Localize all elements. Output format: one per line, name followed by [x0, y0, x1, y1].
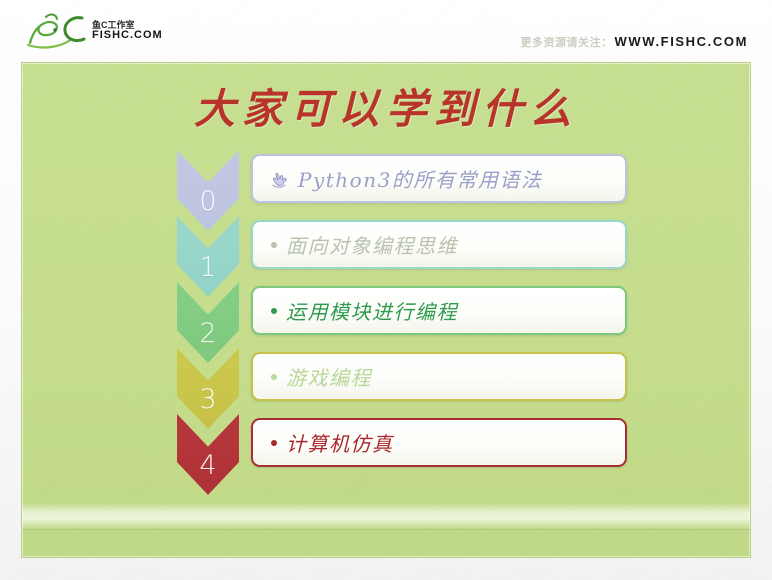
fish-c-logo-icon [24, 9, 90, 53]
list-item[interactable]: 1 面向对象编程思维 [177, 216, 627, 282]
outcome-text-wrap: Python3的所有常用语法 [271, 164, 542, 193]
outcome-box[interactable]: 面向对象编程思维 [251, 220, 627, 269]
outcome-box[interactable]: 游戏编程 [251, 352, 627, 401]
brand-logo[interactable]: 鱼C工作室 FISHC.COM [24, 9, 163, 53]
promo-url[interactable]: WWW.FISHC.COM [615, 34, 748, 49]
outcome-label: 游戏编程 [286, 362, 372, 391]
outcome-label: Python3的所有常用语法 [298, 164, 542, 193]
step-number: 1 [177, 252, 239, 283]
slide-content-area: 大家可以学到什么 0 Python3 [21, 62, 751, 558]
outcome-text-wrap: 运用模块进行编程 [271, 296, 458, 325]
presentation-slide: 鱼C工作室 FISHC.COM 更多资源请关注： WWW.FISHC.COM 大… [0, 0, 772, 580]
outcome-label: 计算机仿真 [286, 428, 394, 457]
header-promo: 更多资源请关注： WWW.FISHC.COM [521, 34, 748, 50]
learning-outcomes-list: 0 Python3的所有常用语法 [177, 150, 627, 480]
bullet-dot-icon [271, 440, 277, 446]
outcome-box[interactable]: Python3的所有常用语法 [251, 154, 627, 203]
list-item[interactable]: 2 运用模块进行编程 [177, 282, 627, 348]
step-number: 3 [177, 384, 239, 415]
slide-header-bar: 鱼C工作室 FISHC.COM 更多资源请关注： WWW.FISHC.COM [0, 0, 772, 62]
list-item[interactable]: 3 游戏编程 [177, 348, 627, 414]
bullet-dot-icon [271, 308, 277, 314]
step-number: 0 [177, 186, 239, 217]
bullet-dot-icon [271, 242, 277, 248]
brand-text-block: 鱼C工作室 FISHC.COM [92, 21, 163, 42]
hand-cursor-icon [271, 170, 290, 187]
list-item[interactable]: 4 计算机仿真 [177, 414, 627, 480]
promo-label: 更多资源请关注： [521, 34, 613, 50]
outcome-box[interactable]: 计算机仿真 [251, 418, 627, 467]
step-number: 2 [177, 318, 239, 349]
page-title: 大家可以学到什么 [22, 75, 750, 135]
outcome-label: 面向对象编程思维 [286, 230, 458, 259]
step-marker-4: 4 [177, 414, 239, 500]
step-number: 4 [177, 450, 239, 481]
outcome-box[interactable]: 运用模块进行编程 [251, 286, 627, 335]
outcome-text-wrap: 游戏编程 [271, 362, 372, 391]
list-item[interactable]: 0 Python3的所有常用语法 [177, 150, 627, 216]
bullet-dot-icon [271, 374, 277, 380]
footer-highlight-band [22, 503, 750, 529]
outcome-label: 运用模块进行编程 [286, 296, 458, 325]
outcome-text-wrap: 计算机仿真 [271, 428, 394, 457]
footer-divider [22, 529, 750, 530]
brand-name-en: FISHC.COM [92, 30, 163, 42]
outcome-text-wrap: 面向对象编程思维 [271, 230, 458, 259]
